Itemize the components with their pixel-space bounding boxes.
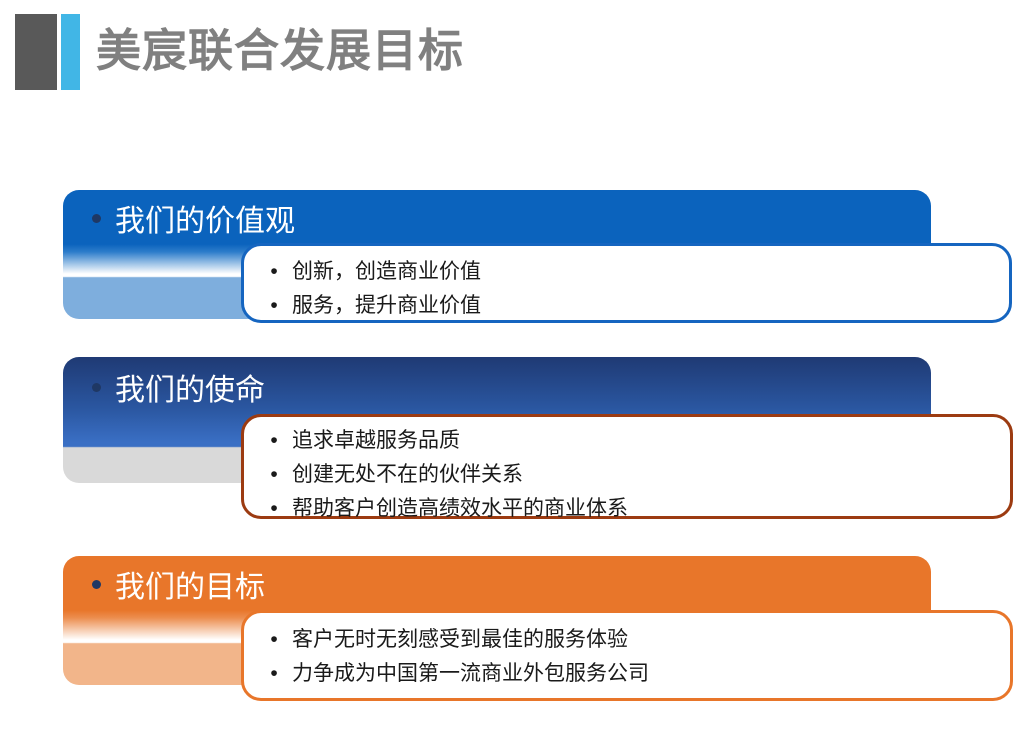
list-item: • 力争成为中国第一流商业外包服务公司 bbox=[266, 657, 1010, 691]
bullet-dot-icon: • bbox=[266, 492, 282, 526]
list-item: • 创建无处不在的伙伴关系 bbox=[266, 458, 1010, 492]
section-heading-values: 我们的价值观 bbox=[92, 196, 295, 240]
list-item-text: 创建无处不在的伙伴关系 bbox=[292, 458, 523, 492]
bullet-dot-icon: • bbox=[266, 458, 282, 492]
bullet-list-goal: • 客户无时无刻感受到最佳的服务体验 • 力争成为中国第一流商业外包服务公司 bbox=[266, 623, 1010, 691]
title-accent-block-dark bbox=[15, 14, 57, 90]
heading-bullet-icon bbox=[92, 580, 101, 589]
bullet-list-values: • 创新，创造商业价值 • 服务，提升商业价值 bbox=[266, 255, 1009, 323]
list-item-text: 创新，创造商业价值 bbox=[292, 255, 481, 289]
bullet-dot-icon: • bbox=[266, 255, 282, 289]
bullet-dot-icon: • bbox=[266, 289, 282, 323]
list-item-text: 帮助客户创造高绩效水平的商业体系 bbox=[292, 492, 628, 526]
section-heading-mission: 我们的使命 bbox=[92, 365, 265, 409]
bullet-dot-icon: • bbox=[266, 623, 282, 657]
heading-bullet-icon bbox=[92, 214, 101, 223]
list-item: • 服务，提升商业价值 bbox=[266, 289, 1009, 323]
section-heading-goal-label: 我们的目标 bbox=[115, 562, 265, 606]
section-heading-values-label: 我们的价值观 bbox=[115, 196, 295, 240]
section-heading-mission-label: 我们的使命 bbox=[115, 365, 265, 409]
page-title: 美宸联合发展目标 bbox=[96, 16, 464, 86]
list-item-text: 力争成为中国第一流商业外包服务公司 bbox=[292, 657, 649, 691]
list-item: • 帮助客户创造高绩效水平的商业体系 bbox=[266, 492, 1010, 526]
section-callout-values: • 创新，创造商业价值 • 服务，提升商业价值 bbox=[241, 243, 1012, 323]
list-item: • 客户无时无刻感受到最佳的服务体验 bbox=[266, 623, 1010, 657]
bullet-dot-icon: • bbox=[266, 657, 282, 691]
bullet-dot-icon: • bbox=[266, 424, 282, 458]
slide-title-bar: 美宸联合发展目标 bbox=[0, 0, 1032, 110]
list-item: • 追求卓越服务品质 bbox=[266, 424, 1010, 458]
bullet-list-mission: • 追求卓越服务品质 • 创建无处不在的伙伴关系 • 帮助客户创造高绩效水平的商… bbox=[266, 424, 1010, 526]
heading-bullet-icon bbox=[92, 383, 101, 392]
section-callout-mission: • 追求卓越服务品质 • 创建无处不在的伙伴关系 • 帮助客户创造高绩效水平的商… bbox=[241, 414, 1013, 519]
title-accent-block-cyan bbox=[61, 14, 80, 90]
list-item-text: 客户无时无刻感受到最佳的服务体验 bbox=[292, 623, 628, 657]
section-heading-goal: 我们的目标 bbox=[92, 562, 265, 606]
section-callout-goal: • 客户无时无刻感受到最佳的服务体验 • 力争成为中国第一流商业外包服务公司 bbox=[241, 610, 1013, 701]
list-item-text: 追求卓越服务品质 bbox=[292, 424, 460, 458]
list-item-text: 服务，提升商业价值 bbox=[292, 289, 481, 323]
list-item: • 创新，创造商业价值 bbox=[266, 255, 1009, 289]
